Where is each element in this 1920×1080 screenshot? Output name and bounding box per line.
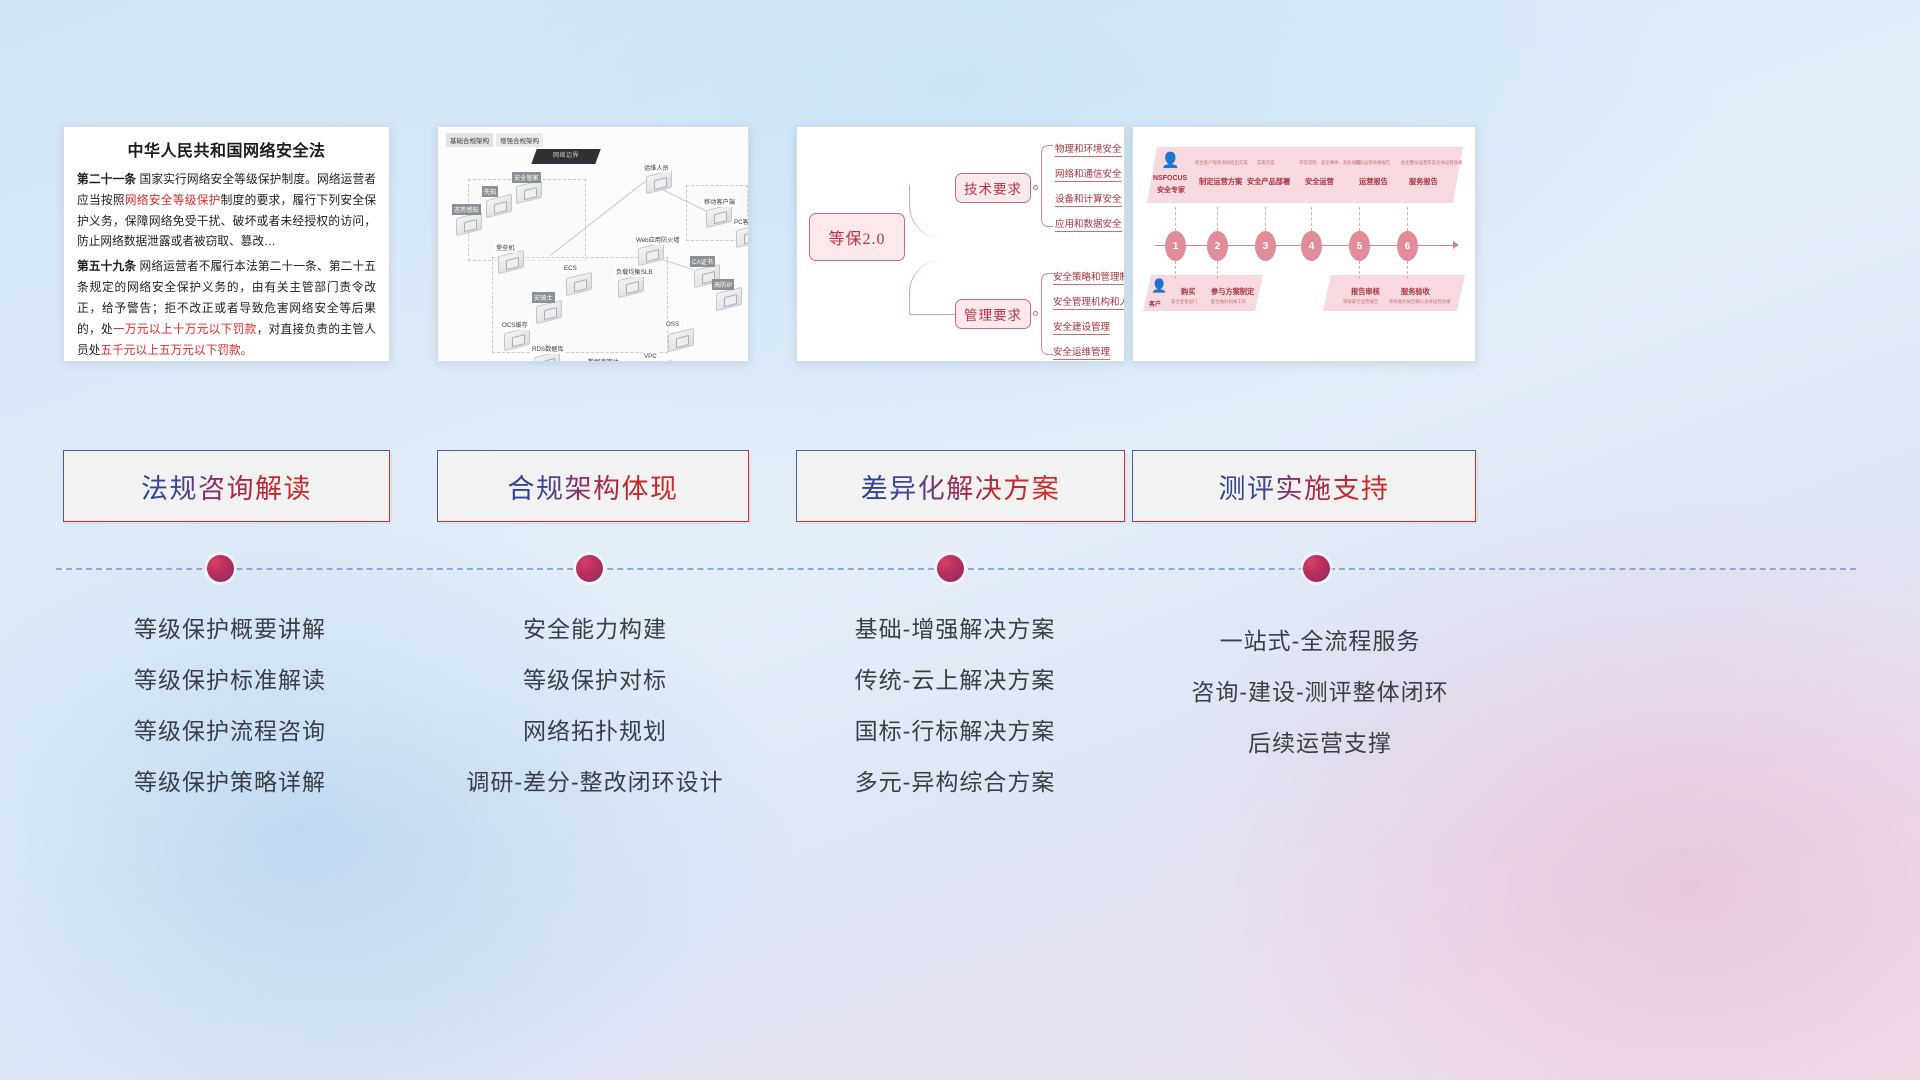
nsfocus-brand-sub: 安全专家 [1157,185,1185,195]
detail-list-4: 一站式-全流程服务 咨询-建设-测评整体闭环 后续运营支撑 [1110,616,1530,769]
nsfocus-step-main-3: 安全运营 [1305,177,1334,187]
architecture-node-label: 高防IP [712,279,734,290]
nsfocus-step-sub-5: 给出整份运营年度总体运营效果 [1401,160,1462,166]
mindmap-leaf-tech-3: 设备和计算安全 [1055,191,1122,207]
list-item: 后续运营支撑 [1110,718,1530,769]
list-item: 等级保护流程咨询 [40,706,420,757]
nsfocus-axis-arrow-icon [1453,241,1459,249]
architecture-node-label: RDS数据库 [530,343,566,354]
detail-list-3: 基础-增强解决方案 传统-云上解决方案 国标-行标解决方案 多元-异构综合方案 [760,604,1150,808]
mindmap-leaf-tech-1: 物理和环境安全 [1055,141,1122,157]
nsfocus-step-main-2: 安全产品部署 [1247,177,1290,187]
pillar-box-4[interactable]: 测评实施支持 [1132,450,1476,522]
architecture-banner-label: 网络边界 [534,149,598,164]
law-paragraph-59: 第五十九条 网络运营者不履行本法第二十一条、第二十五条规定的网络安全保护义务的，… [77,257,376,361]
nsfocus-bottom-main-3: 报告审核 [1351,287,1380,297]
nsfocus-bottom-main-2: 参与方案制定 [1211,287,1254,297]
nsfocus-step-number-3: 3 [1255,231,1276,261]
law-content: 中华人民共和国网络安全法 第二十一条 国家实行网络安全等级保护制度。网络运营者应… [64,127,389,362]
timeline-marker-3[interactable] [937,555,964,582]
list-item: 传统-云上解决方案 [760,655,1150,706]
nsfocus-step-sub-3: 日常巡检、安全事件、高危处置 [1299,160,1360,166]
list-item: 等级保护概要讲解 [40,604,420,655]
law-highlight-59a: 一万元以上十万元以下罚款 [113,323,257,336]
law-title: 中华人民共和国网络安全法 [77,137,376,161]
timeline-marker-1[interactable] [207,555,234,582]
list-item: 等级保护标准解读 [40,655,420,706]
list-item: 基础-增强解决方案 [760,604,1150,655]
list-item: 国标-行标解决方案 [760,706,1150,757]
slide-canvas: 中华人民共和国网络安全法 第二十一条 国家实行网络安全等级保护制度。网络运营者应… [0,0,1920,1080]
pillar-row: 法规咨询解读 合规架构体现 差异化解决方案 测评实施支持 [0,450,1920,522]
nsfocus-step-number-2: 2 [1207,231,1228,261]
architecture-node-label: 安骑士 [532,292,555,303]
mindmap-branch-management: 管理要求 [955,299,1031,329]
architecture-tab-enhanced[interactable]: 增强合规架构 [496,133,543,147]
nsfocus-step-main-4: 运营报告 [1359,177,1388,187]
architecture-node-label: 运维人员 [642,162,671,173]
detail-list-2: 安全能力构建 等级保护对标 网络拓扑规划 调研-差分-整改闭环设计 [400,604,790,808]
mindmap-leaf-mgmt-3: 安全建设管理 [1053,319,1110,335]
mindmap-leaf-mgmt-4: 安全运维管理 [1053,344,1110,360]
pillar-box-2[interactable]: 合规架构体现 [437,450,749,522]
law-highlight-21: 网络安全等级保护 [125,194,221,207]
nsfocus-customer-label: 客户 [1149,299,1161,308]
nsfocus-diagram: 👤 NSFOCUS 安全专家 结合客户现状调研后出方案 制定运营方案 实施方案 … [1133,127,1475,361]
mindmap: 等保2.0 技术要求 管理要求 物理和环境安全 网络和通信安全 设备和计算安全 … [797,127,1124,361]
nsfocus-top-band [1147,147,1463,203]
mindmap-leaf-tech-4: 应用和数据安全 [1055,216,1122,232]
card-cloud-architecture[interactable]: 基础合规架构 增强合规架构 网络边界 态势感知先知安全管家堡垒机ECS安骑士OC… [437,126,749,362]
pillar-label-2: 合规架构体现 [508,467,679,506]
nsfocus-bottom-sub-2: 配合做好相关工作 [1211,299,1246,305]
nsfocus-step-main-5: 服务报告 [1409,177,1438,187]
nsfocus-bottom-sub-1: 安全主管部门 [1171,299,1197,305]
mindmap-leaf-mgmt-1: 安全策略和管理制度 [1053,269,1125,285]
nsfocus-step-number-1: 1 [1165,231,1186,261]
architecture-node-label: 堡垒机 [494,242,517,253]
law-highlight-59b: 五千元以上五万元以下罚款。 [100,344,252,357]
nsfocus-bottom-sub-3: 审核安全运营报告 [1343,299,1378,305]
pillar-box-1[interactable]: 法规咨询解读 [63,450,390,522]
nsfocus-bottom-sub-4: 审核服务报告确认总体运营效果 [1389,299,1450,305]
mindmap-connector-technical-icon [1033,185,1038,190]
architecture-node [646,170,672,194]
law-paragraph-21: 第二十一条 国家实行网络安全等级保护制度。网络运营者应当按照网络安全等级保护制度… [77,170,376,253]
mindmap-connector-management-icon [1033,311,1038,316]
architecture-tabs: 基础合规架构 增强合规架构 [446,133,543,147]
nsfocus-bottom-main-4: 服务验收 [1401,287,1430,297]
timeline-marker-2[interactable] [576,555,603,582]
nsfocus-bottom-main-1: 购买 [1181,287,1195,297]
law-article-number-21: 第二十一条 [77,173,136,186]
list-item: 咨询-建设-测评整体闭环 [1110,667,1530,718]
card-nsfocus-timeline[interactable]: 👤 NSFOCUS 安全专家 结合客户现状调研后出方案 制定运营方案 实施方案 … [1132,126,1476,362]
list-item: 一站式-全流程服务 [1110,616,1530,667]
list-item: 等级保护策略详解 [40,757,420,808]
list-item: 安全能力构建 [400,604,790,655]
pillar-box-3[interactable]: 差异化解决方案 [796,450,1125,522]
nsfocus-step-sub-2: 实施方案 [1257,160,1275,166]
architecture-node-label: 数据库审计 [586,356,621,362]
architecture-node [716,287,742,311]
architecture-node-label: CA证书 [690,256,715,267]
customer-person-icon: 👤 [1151,279,1167,292]
list-item: 多元-异构综合方案 [760,757,1150,808]
architecture-node-label: 先知 [482,186,498,197]
architecture-banner: 网络边界 [531,149,600,164]
nsfocus-step-sub-1: 结合客户现状调研后出方案 [1195,160,1248,166]
architecture-node-label: Web应用防火墙 [634,234,682,245]
nsfocus-bottom-right-band [1323,275,1465,311]
mindmap-root: 等保2.0 [809,213,905,261]
pillar-label-3: 差异化解决方案 [861,467,1061,506]
nsfocus-step-number-5: 5 [1349,231,1370,261]
expert-person-icon: 👤 [1161,153,1180,168]
card-cybersecurity-law[interactable]: 中华人民共和国网络安全法 第二十一条 国家实行网络安全等级保护制度。网络运营者应… [63,126,390,362]
card-mindmap-dengbao[interactable]: 等保2.0 技术要求 管理要求 物理和环境安全 网络和通信安全 设备和计算安全 … [796,126,1125,362]
architecture-node [668,328,694,352]
nsfocus-step-sub-4: 阶段运营效果报告 [1355,160,1390,166]
architecture-diagram: 基础合规架构 增强合规架构 网络边界 态势感知先知安全管家堡垒机ECS安骑士OC… [438,127,748,361]
architecture-node-label: ECS [562,264,579,273]
architecture-node-label: OSS [664,320,681,329]
nsfocus-brand: NSFOCUS [1153,175,1187,182]
nsfocus-step-number-4: 4 [1301,231,1322,261]
nsfocus-step-number-6: 6 [1397,231,1418,261]
mindmap-leaf-mgmt-2: 安全管理机构和人员 [1053,294,1125,310]
architecture-node-label: 移动客户端 [702,196,737,207]
law-article-number-59: 第五十九条 [77,260,136,273]
architecture-node-label: VPC [642,352,659,361]
list-item: 网络拓扑规划 [400,706,790,757]
mindmap-leaf-tech-2: 网络和通信安全 [1055,166,1122,182]
detail-list-1: 等级保护概要讲解 等级保护标准解读 等级保护流程咨询 等级保护策略详解 [40,604,420,808]
architecture-node-label: 负载均衡SLB [614,266,654,277]
nsfocus-step-main-1: 制定运营方案 [1199,177,1242,187]
architecture-node-label: 安全管家 [512,172,541,183]
timeline-marker-4[interactable] [1303,555,1330,582]
list-item: 等级保护对标 [400,655,790,706]
architecture-node-label: OCS缓存 [500,319,530,330]
mindmap-branch-technical: 技术要求 [955,173,1031,203]
architecture-node-label: 态势感知 [452,204,481,215]
image-card-row: 中华人民共和国网络安全法 第二十一条 国家实行网络安全等级保护制度。网络运营者应… [0,126,1920,362]
list-item: 调研-差分-整改闭环设计 [400,757,790,808]
architecture-tab-basic[interactable]: 基础合规架构 [446,133,493,147]
architecture-node-label: PC客户端 [732,216,749,227]
pillar-label-1: 法规咨询解读 [141,467,312,506]
pillar-label-4: 测评实施支持 [1219,467,1390,506]
